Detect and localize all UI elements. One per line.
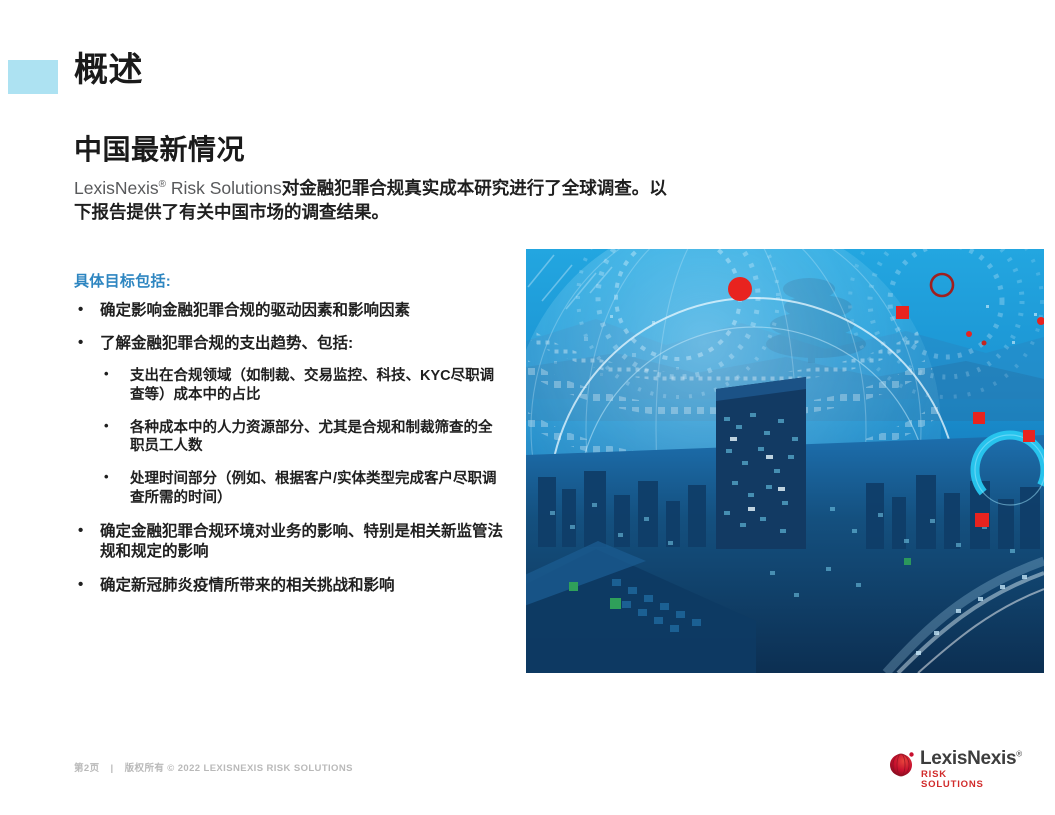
bullet-text: 了解金融犯罪合规的支出趋势、包括:: [100, 334, 504, 354]
page-number: 第2页: [74, 763, 99, 774]
list-item: 确定影响金融犯罪合规的驱动因素和影响因素: [74, 301, 504, 321]
list-item: 支出在合规领域（如制裁、交易监控、科技、KYC尽职调查等）成本中的占比: [100, 367, 504, 405]
list-item: 确定新冠肺炎疫情所带来的相关挑战和影响: [74, 576, 504, 596]
list-item: 处理时间部分（例如、根据客户/实体类型完成客户尽职调查所需的时间）: [100, 470, 504, 508]
page-title: 概述: [74, 50, 143, 91]
brand-suffix: Risk Solutions: [166, 178, 282, 198]
bullet-text: 确定新冠肺炎疫情所带来的相关挑战和影响: [100, 576, 504, 596]
bullet-text: 确定金融犯罪合规环境对业务的影响、特别是相关新监管法规和规定的影响: [100, 522, 504, 563]
objectives-list: 确定影响金融犯罪合规的驱动因素和影响因素 了解金融犯罪合规的支出趋势、包括: 支…: [74, 301, 504, 596]
logo-subtext: RISK SOLUTIONS: [921, 770, 1007, 789]
brand-name: LexisNexis: [74, 178, 159, 198]
registered-trademark-icon: ®: [159, 179, 166, 190]
copyright-text: 版权所有 © 2022 LEXISNEXIS RISK SOLUTIONS: [125, 763, 353, 774]
footer-copyright: 第2页 | 版权所有 © 2022 LEXISNEXIS RISK SOLUTI…: [74, 760, 353, 774]
title-accent-block: [8, 60, 58, 94]
hero-image: [526, 249, 1044, 673]
lexisnexis-logo: LexisNexis® RISK SOLUTIONS: [889, 749, 1007, 783]
logo-wordmark: LexisNexis®: [920, 749, 1022, 768]
lexisnexis-sphere-icon: [889, 751, 915, 777]
section-heading: 中国最新情况: [74, 128, 245, 168]
objectives-section: 具体目标包括: 确定影响金融犯罪合规的驱动因素和影响因素 了解金融犯罪合规的支出…: [74, 270, 504, 609]
list-item: 确定金融犯罪合规环境对业务的影响、特别是相关新监管法规和规定的影响: [74, 522, 504, 563]
list-item: 了解金融犯罪合规的支出趋势、包括: 支出在合规领域（如制裁、交易监控、科技、KY…: [74, 334, 504, 508]
logo-registered-icon: ®: [1016, 750, 1022, 759]
intro-paragraph: LexisNexis® Risk Solutions对金融犯罪合规真实成本研究进…: [74, 176, 674, 224]
bullet-text: 确定影响金融犯罪合规的驱动因素和影响因素: [100, 301, 504, 321]
logo-wordmark-text: LexisNexis: [920, 748, 1016, 769]
list-item: 各种成本中的人力资源部分、尤其是合规和制裁筛查的全职员工人数: [100, 419, 504, 457]
objectives-label: 具体目标包括:: [74, 270, 504, 291]
objectives-sublist: 支出在合规领域（如制裁、交易监控、科技、KYC尽职调查等）成本中的占比 各种成本…: [100, 367, 504, 508]
cityscape-globe-graphic: [526, 249, 1044, 673]
footer-separator: |: [103, 763, 122, 774]
